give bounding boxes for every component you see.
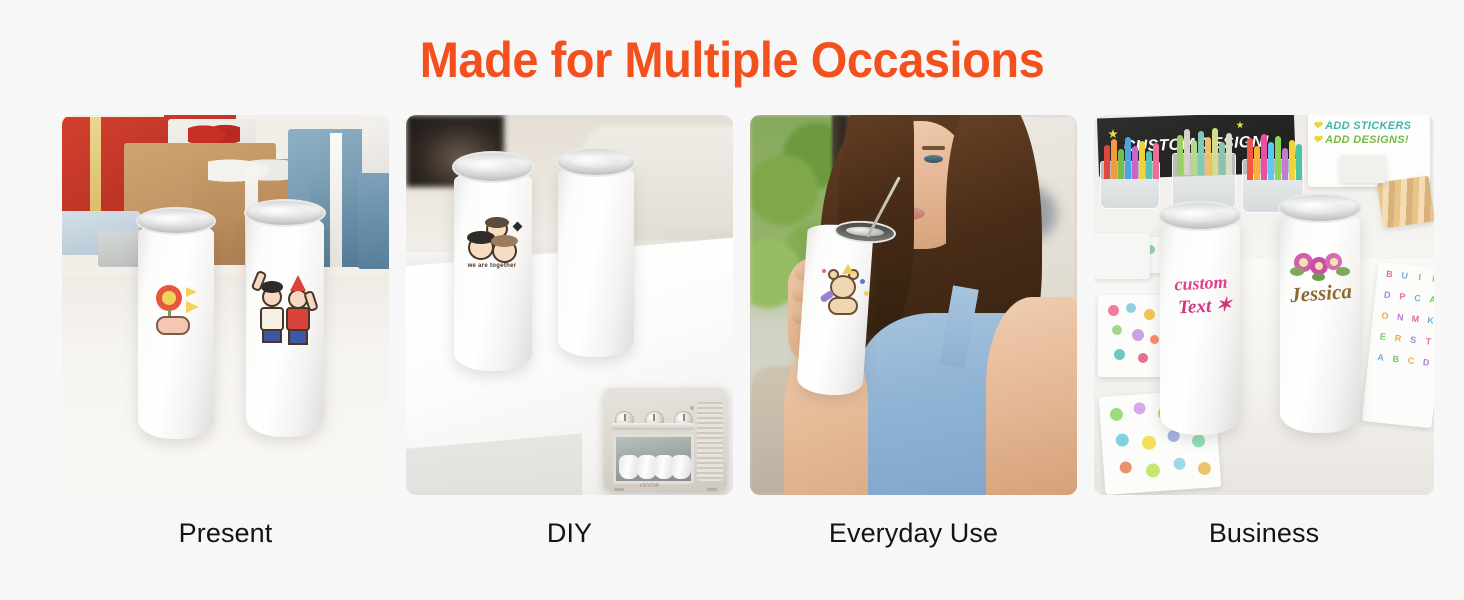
oven-foot [707,488,717,491]
oven-side-vent [697,402,723,480]
heart-icon: ❤ [1313,134,1323,146]
sticker-sheet-washi [1377,176,1434,229]
oven-indicator-light [690,406,694,410]
gift-ribbon-gold [90,117,101,222]
caption-present: Present [62,508,389,568]
markers [1175,129,1233,175]
tumbler-jessica [1280,211,1360,433]
caption-business: Business [1094,508,1434,568]
decal-party-girls [252,269,318,349]
tumbler-custom-text [1160,219,1240,435]
oven-handle[interactable] [611,423,695,430]
gift-box-blue-right [358,173,389,269]
business-scene-image: CUSTOM DESIGN! ❤ADD STICKERS ❤ADD DESIGN… [1094,115,1434,495]
oven-tumbler [671,455,691,479]
decal-bear [820,267,870,317]
caption-everyday-use: Everyday Use [750,508,1077,568]
decal-hand-flower [150,283,204,335]
everyday-scene-image [750,115,1077,495]
tumbler-text-custom: custom [1169,271,1232,295]
present-scene-image [62,115,389,495]
caption-diy: DIY [406,508,733,568]
decal-flowers [1290,249,1350,283]
model-shoulder [986,297,1077,495]
sticker-box-left [1094,233,1150,279]
model-eyebrow-right [922,146,945,150]
tumbler-lid-left [136,207,216,235]
business-tumbler-lid-left [1158,201,1242,231]
diy-tumbler-lid-b [556,147,636,177]
gift-ribbon-white-2 [330,133,342,267]
tumbler-lid-right [244,199,326,227]
convection-oven: VEVOR [604,388,727,491]
marker-cup-left [1100,161,1160,209]
tumbler-text-jessica: Jessica [1285,279,1357,309]
promo-banner: Made for Multiple Occasions [0,0,1464,600]
decal-family-faces: we are together [462,219,524,277]
sign-line-1: ❤ADD STICKERS [1313,120,1426,134]
decal-family-caption: we are together [460,263,524,269]
markers [1245,134,1301,180]
occasion-cards: we are together [62,115,1402,495]
present-floor [62,275,389,495]
occasion-card-everyday-use[interactable] [750,115,1077,495]
tumbler-blank [558,165,634,357]
sign-line-2: ❤ADD DESIGNS! [1313,134,1426,148]
occasion-card-present[interactable] [62,115,389,495]
page-title: Made for Multiple Occasions [44,33,1420,88]
diy-tumbler-lid-a [452,151,534,183]
markers [1103,133,1157,179]
card-captions: Present DIY Everyday Use Business [62,508,1402,568]
tumbler-text-text: Text ✶ [1173,293,1236,319]
occasion-card-business[interactable]: CUSTOM DESIGN! ❤ADD STICKERS ❤ADD DESIGN… [1094,115,1434,495]
oven-foot [614,488,624,491]
diy-scene-image: we are together [406,115,733,495]
model-eye-right [924,155,943,163]
oven-glass-door[interactable] [613,434,694,483]
craft-clip [1340,155,1386,183]
heart-icon: ❤ [1313,120,1323,132]
business-tumbler-lid-right [1278,193,1362,223]
occasion-card-diy[interactable]: we are together [406,115,733,495]
